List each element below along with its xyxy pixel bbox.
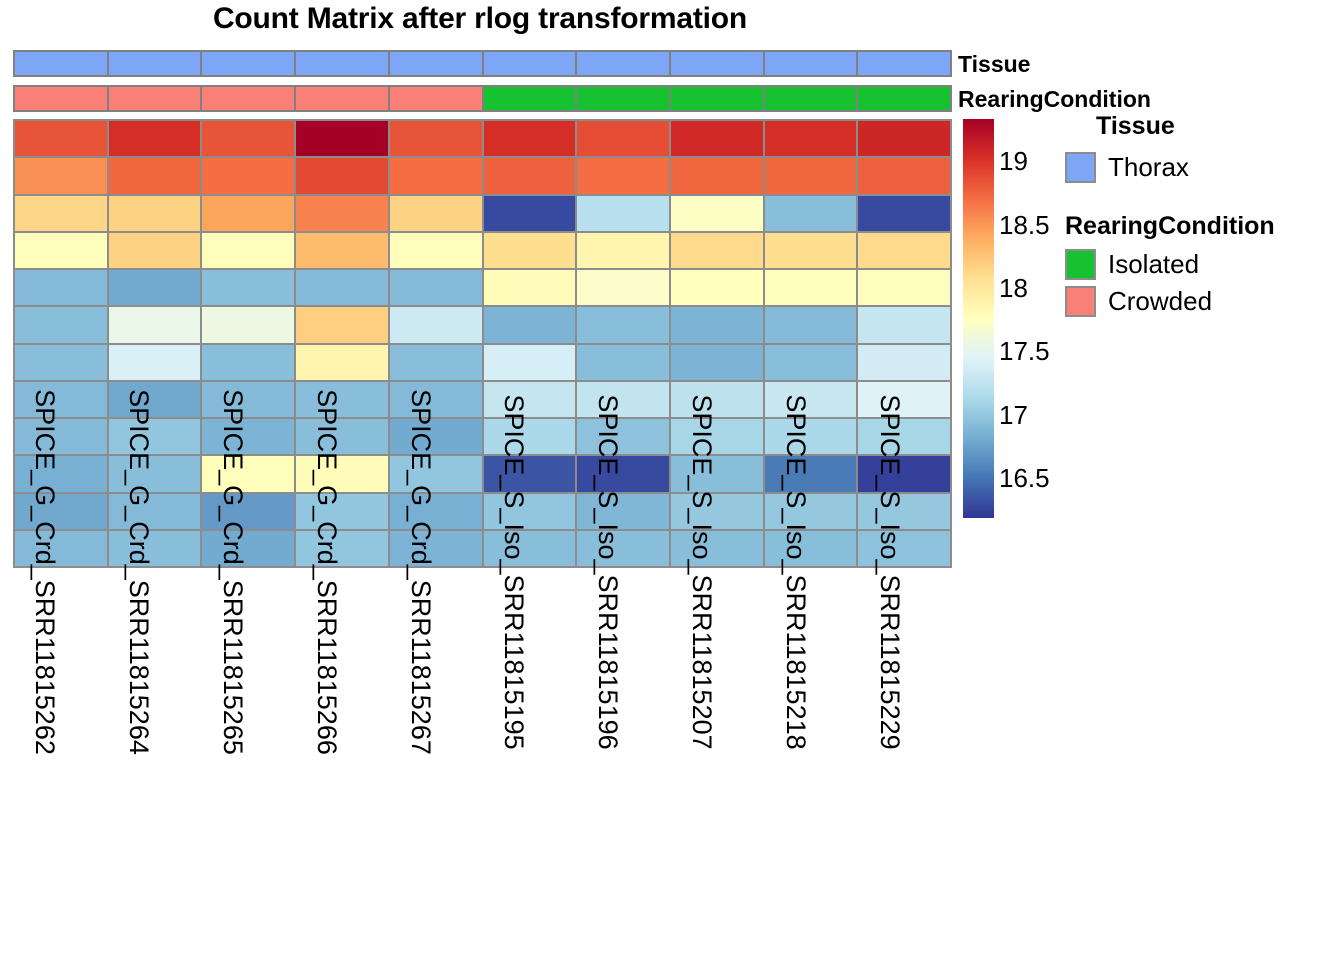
colorbar-tick-label: 17: [999, 400, 1028, 431]
colorbar-tick-label: 16.5: [999, 463, 1050, 494]
legend-swatch-isolated: [1065, 249, 1096, 280]
column-label-slot: SPICE_S_Iso_SRR11815195: [483, 572, 577, 957]
heatmap-cell: [202, 121, 294, 156]
colorbar-tick-label: 18: [999, 273, 1028, 304]
heatmap-cell: [202, 158, 294, 193]
annotation-rearing-cell: [577, 87, 669, 110]
heatmap-cell: [15, 196, 107, 231]
heatmap-cell: [296, 233, 388, 268]
heatmap-row: [15, 307, 950, 342]
column-label: SPICE_G_Crd_SRR11815262: [29, 389, 60, 755]
heatmap-row: [15, 345, 950, 380]
annotation-tissue-cell: [484, 52, 576, 75]
heatmap-cell: [577, 121, 669, 156]
heatmap-cell: [577, 456, 669, 491]
annotation-tissue-cell: [390, 52, 482, 75]
heatmap-cell: [577, 494, 669, 529]
column-label-slot: SPICE_G_Crd_SRR11815267: [389, 572, 483, 957]
heatmap-cell: [577, 531, 669, 566]
heatmap-cell: [858, 345, 950, 380]
annotation-tissue-cell: [765, 52, 857, 75]
heatmap-cell: [858, 121, 950, 156]
heatmap-cell: [858, 233, 950, 268]
heatmap-cell: [671, 345, 763, 380]
annotation-bar-tissue: [13, 50, 952, 77]
heatmap-cell: [15, 121, 107, 156]
heatmap-cell: [15, 158, 107, 193]
heatmap-cell: [109, 270, 201, 305]
heatmap-cell: [15, 233, 107, 268]
column-label: SPICE_S_Iso_SRR11815196: [592, 394, 623, 749]
legend-label-crowded: Crowded: [1108, 286, 1212, 317]
heatmap-cell: [577, 419, 669, 454]
column-label-slot: SPICE_S_Iso_SRR11815196: [576, 572, 670, 957]
heatmap-cell: [671, 158, 763, 193]
heatmap-cell: [484, 270, 576, 305]
annotation-rearing-cell: [390, 87, 482, 110]
heatmap-cell: [484, 121, 576, 156]
heatmap-cell: [671, 196, 763, 231]
heatmap-cell: [577, 233, 669, 268]
heatmap-cell: [109, 307, 201, 342]
heatmap-cell: [390, 233, 482, 268]
heatmap-cell: [109, 345, 201, 380]
heatmap-cell: [390, 158, 482, 193]
column-label: SPICE_S_Iso_SRR11815195: [498, 394, 529, 749]
heatmap-cell: [671, 270, 763, 305]
annotation-rearing-cell: [109, 87, 201, 110]
heatmap-cell: [858, 158, 950, 193]
column-label-slot: SPICE_S_Iso_SRR11815229: [858, 572, 952, 957]
heatmap-cell: [765, 121, 857, 156]
colorbar-gradient: [963, 119, 994, 518]
annotation-tissue-cell: [296, 52, 388, 75]
heatmap-cell: [765, 158, 857, 193]
legend-entry-isolated: Isolated: [1065, 249, 1199, 280]
heatmap-cell: [15, 307, 107, 342]
heatmap-cell: [109, 196, 201, 231]
heatmap-cell: [202, 345, 294, 380]
legend-swatch-crowded: [1065, 286, 1096, 317]
heatmap-row: [15, 158, 950, 193]
legend-entry-crowded: Crowded: [1065, 286, 1212, 317]
heatmap-cell: [765, 270, 857, 305]
heatmap-cell: [390, 196, 482, 231]
heatmap-cell: [671, 121, 763, 156]
heatmap-cell: [484, 196, 576, 231]
column-label-slot: SPICE_S_Iso_SRR11815218: [764, 572, 858, 957]
annotation-rearing-cell: [202, 87, 294, 110]
column-label-slot: SPICE_G_Crd_SRR11815266: [295, 572, 389, 957]
annotation-rearing-cell: [15, 87, 107, 110]
legend-label-thorax: Thorax: [1108, 152, 1189, 183]
column-label: SPICE_G_Crd_SRR11815265: [217, 389, 248, 755]
annotation-rearing-cell: [765, 87, 857, 110]
column-label-slot: SPICE_G_Crd_SRR11815264: [107, 572, 201, 957]
heatmap-cell: [858, 307, 950, 342]
annotation-tissue-cell: [671, 52, 763, 75]
annotation-rearing-cell: [858, 87, 950, 110]
column-label-slot: SPICE_G_Crd_SRR11815265: [201, 572, 295, 957]
column-label: SPICE_S_Iso_SRR11815229: [874, 394, 905, 749]
heatmap-row: [15, 270, 950, 305]
heatmap-cell: [296, 345, 388, 380]
heatmap-cell: [202, 307, 294, 342]
heatmap-row: [15, 196, 950, 231]
heatmap-cell: [577, 158, 669, 193]
heatmap-cell: [858, 196, 950, 231]
heatmap-cell: [765, 196, 857, 231]
heatmap-cell: [765, 345, 857, 380]
column-label: SPICE_G_Crd_SRR11815264: [123, 389, 154, 755]
annotation-tissue-cell: [202, 52, 294, 75]
heatmap-cell: [484, 307, 576, 342]
annotation-tissue-cell: [109, 52, 201, 75]
heatmap-cell: [296, 270, 388, 305]
heatmap-cell: [15, 345, 107, 380]
legend-title-tissue: Tissue: [1096, 112, 1175, 141]
heatmap-cell: [390, 270, 482, 305]
heatmap-cell: [484, 233, 576, 268]
annotation-bar-rearing-condition: [13, 85, 952, 112]
heatmap-cell: [577, 270, 669, 305]
heatmap-cell: [296, 196, 388, 231]
column-label: SPICE_S_Iso_SRR11815207: [686, 394, 717, 749]
column-label-slot: SPICE_S_Iso_SRR11815207: [670, 572, 764, 957]
annotation-label-tissue: Tissue: [958, 51, 1030, 78]
heatmap-cell: [296, 158, 388, 193]
annotation-tissue-cell: [15, 52, 107, 75]
column-label: SPICE_G_Crd_SRR11815266: [311, 389, 342, 755]
heatmap-cell: [202, 270, 294, 305]
annotation-tissue-cell: [858, 52, 950, 75]
legend-entry-thorax: Thorax: [1065, 152, 1189, 183]
colorbar-tick-label: 17.5: [999, 336, 1050, 367]
heatmap-cell: [577, 345, 669, 380]
heatmap-cell: [484, 345, 576, 380]
column-label-slot: SPICE_G_Crd_SRR11815262: [13, 572, 107, 957]
heatmap-cell: [296, 307, 388, 342]
heatmap-cell: [577, 196, 669, 231]
heatmap-cell: [109, 158, 201, 193]
heatmap-cell: [202, 196, 294, 231]
heatmap-cell: [109, 233, 201, 268]
heatmap-cell: [765, 233, 857, 268]
heatmap-cell: [671, 233, 763, 268]
heatmap-cell: [577, 382, 669, 417]
heatmap-cell: [109, 121, 201, 156]
column-label: SPICE_G_Crd_SRR11815267: [405, 389, 436, 755]
annotation-tissue-cell: [577, 52, 669, 75]
colorbar: [963, 119, 994, 518]
column-label-axis: SPICE_G_Crd_SRR11815262SPICE_G_Crd_SRR11…: [13, 572, 952, 957]
colorbar-tick-label: 19: [999, 146, 1028, 177]
legend-title-rearing-condition: RearingCondition: [1065, 212, 1275, 241]
annotation-rearing-cell: [484, 87, 576, 110]
heatmap-cell: [671, 307, 763, 342]
heatmap-row: [15, 121, 950, 156]
annotation-rearing-cell: [296, 87, 388, 110]
annotation-label-rearing-condition: RearingCondition: [958, 86, 1151, 113]
heatmap-cell: [858, 270, 950, 305]
heatmap-cell: [390, 121, 482, 156]
heatmap-row: [15, 233, 950, 268]
heatmap-cell: [296, 121, 388, 156]
annotation-rearing-cell: [671, 87, 763, 110]
heatmap-cell: [15, 270, 107, 305]
page-title: Count Matrix after rlog transformation: [0, 2, 960, 36]
colorbar-tick-label: 18.5: [999, 210, 1050, 241]
heatmap-cell: [765, 307, 857, 342]
heatmap-cell: [390, 345, 482, 380]
legend-label-isolated: Isolated: [1108, 249, 1199, 280]
legend-swatch-thorax: [1065, 152, 1096, 183]
heatmap-cell: [202, 233, 294, 268]
column-label: SPICE_S_Iso_SRR11815218: [780, 394, 811, 749]
heatmap-cell: [484, 158, 576, 193]
heatmap-cell: [390, 307, 482, 342]
heatmap-cell: [577, 307, 669, 342]
